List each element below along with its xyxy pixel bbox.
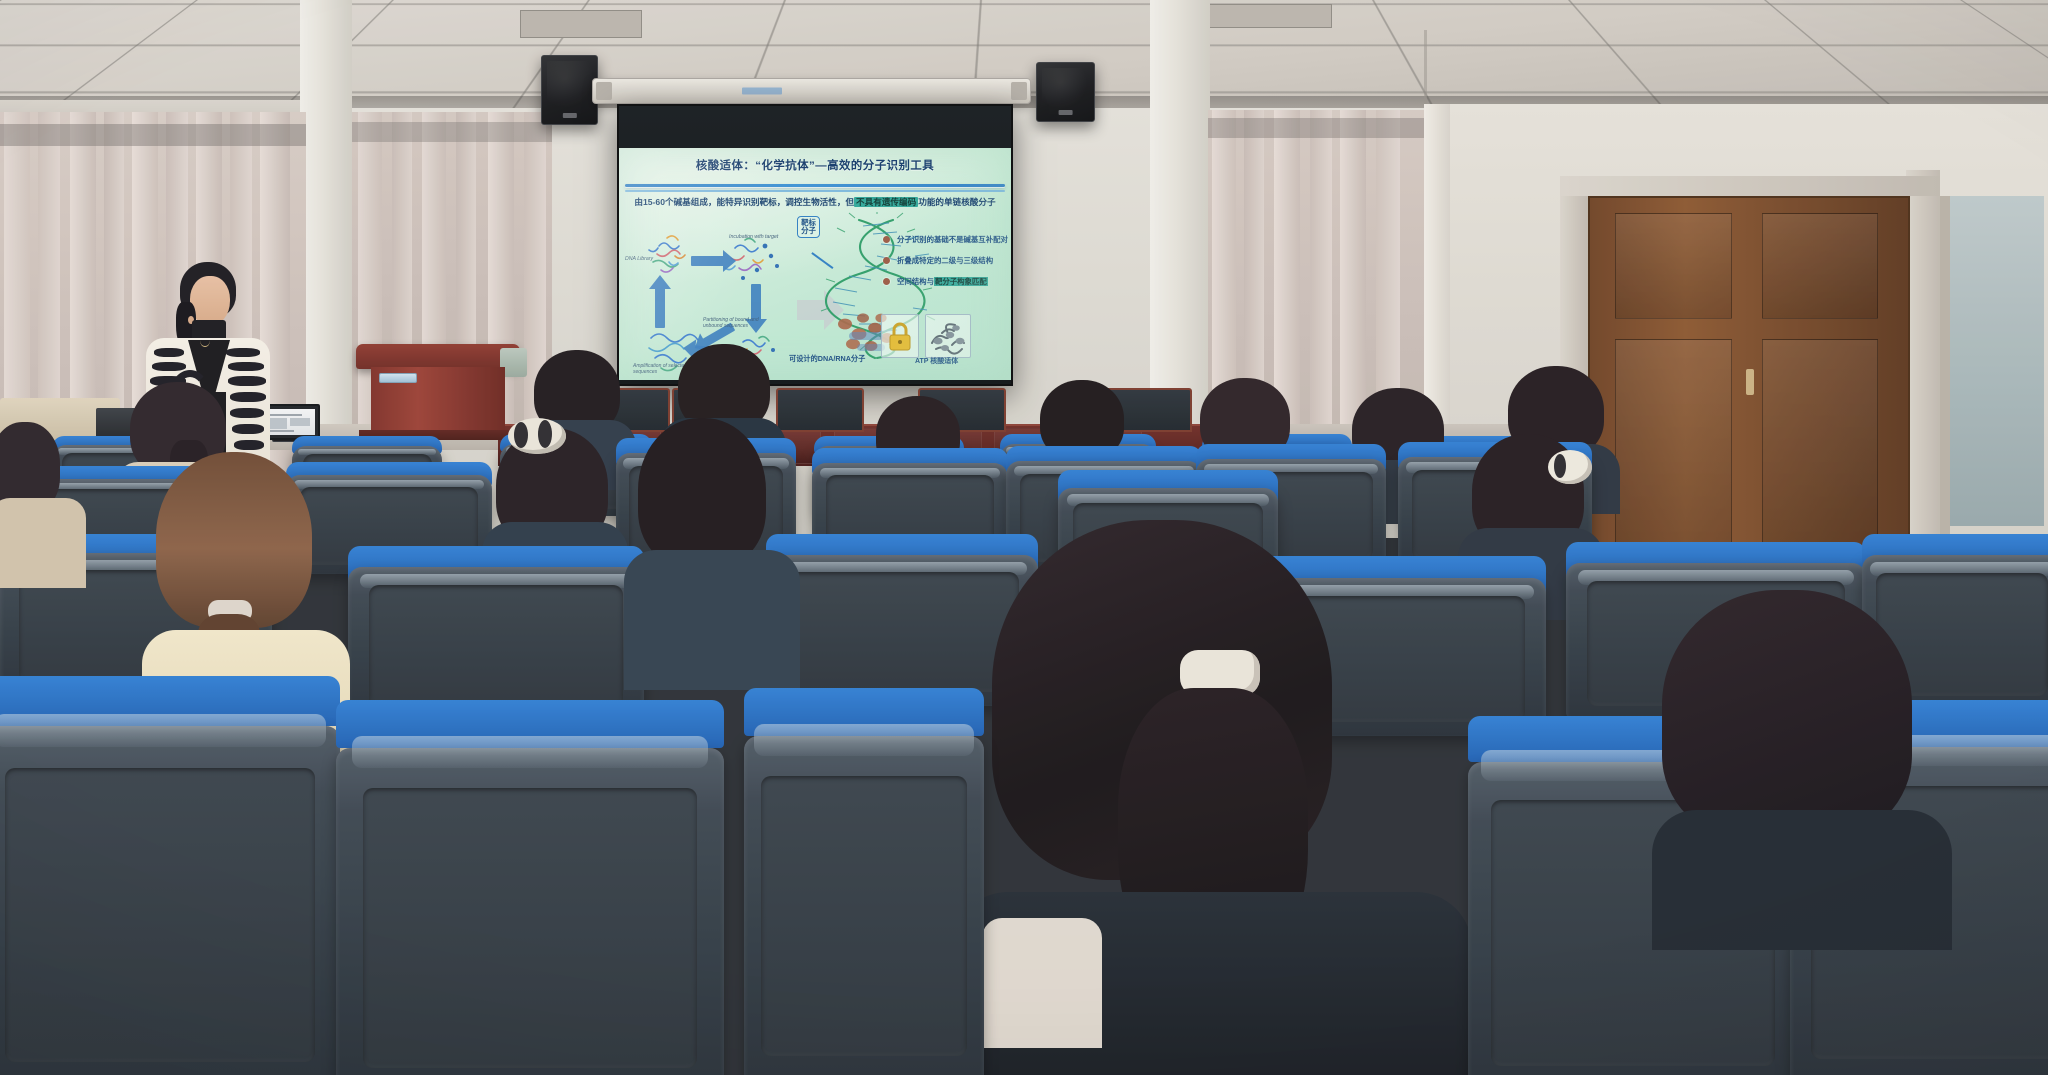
bullet-dot-icon [883,278,890,285]
wall-pillar-left [300,0,352,470]
bullet-dot-icon [883,236,890,243]
chair-foreground-left[interactable] [0,676,340,1075]
chair-foreground-midright[interactable] [744,688,984,1075]
selex-label-incubation: Incubation with target [729,234,778,240]
audience-foreground [952,520,1472,1075]
chair-r3-c2[interactable] [348,546,644,722]
slide-title-rule-thin [625,190,1005,192]
selex-arrow-partitioning [751,284,761,320]
audience-row3-center [624,418,794,648]
selex-label-partitioning: Partitioning of bound and unbound sequen… [703,318,765,330]
audience-row2-brown [142,452,342,692]
projector-screen-housing[interactable] [592,78,1031,104]
list-item: 空间结构与靶分子构象匹配 [883,276,1009,287]
bullet-text: 折叠成特定的二级与三级结构 [897,255,993,266]
icon-caption: ATP 核酸适体 [915,356,958,366]
slide-bullet-list: 分子识别的基础不是碱基互补配对 折叠成特定的二级与三级结构 空间结构与靶分子构象… [883,234,1009,297]
list-item: 折叠成特定的二级与三级结构 [883,255,1009,266]
door-handle[interactable] [1746,369,1754,395]
slide-subtitle-highlight: 不具有遗传编码 [854,197,918,207]
necklace [200,334,210,347]
ceiling-vent-1 [520,10,642,38]
wall-speaker-right [1036,62,1095,122]
slide-subtitle-after: 功能的单链核酸分子 [918,197,995,207]
slide-title: 核酸适体：“化学抗体”—高效的分子识别工具 [696,157,934,173]
screen-brand-logo [742,88,782,95]
audience-far-right [1652,590,1952,920]
slide-bottom-caption: 可设计的DNA/RNA分子 [789,354,865,364]
target-molecule-callout: 靶标分子 [797,216,820,238]
protein-structure-icon [926,315,970,357]
selex-arrow-to-incubation [691,256,725,266]
selex-label-dna-library: DNA Library [625,256,653,262]
chair-foreground-mid[interactable] [336,700,724,1075]
bullet-text: 分子识别的基础不是碱基互补配对 [897,234,1008,245]
bullet-text-highlight: 靶分子构象匹配 [934,277,988,286]
door-frame-right [1906,170,1940,570]
list-item: 分子识别的基础不是碱基互补配对 [883,234,1009,245]
face-mask [982,918,1102,1048]
slide-subtitle: 由15-60个碱基组成，能特异识别靶标，调控生物活性，但不具有遗传编码功能的单链… [629,196,1001,208]
lock-icon [882,315,918,357]
entrance-door[interactable] [1588,196,1910,572]
selex-arrow-cycle-up [655,288,665,328]
audience-left-edge [0,402,80,552]
protein-icon-box [925,314,971,358]
slide-title-rule [625,184,1005,187]
slide-subtitle-before: 由15-60个碱基组成，能特异识别靶标，调控生物活性，但 [634,197,854,207]
podium-plate [379,373,417,384]
wall-speaker-left [541,55,598,125]
door-sidelight-glass [1948,196,2044,526]
bullet-text: 空间结构与靶分子构象匹配 [897,276,988,287]
slide-title-bar: 核酸适体：“化学抗体”—高效的分子识别工具 [619,148,1011,183]
door-frame-top [1560,176,1940,196]
lock-icon-box [881,314,919,358]
screenshot-root: 核酸适体：“化学抗体”—高效的分子识别工具 由15-60个碱基组成，能特异识别靶… [0,0,2048,1075]
room-interior: 核酸适体：“化学抗体”—高效的分子识别工具 由15-60个碱基组成，能特异识别靶… [0,0,2048,1075]
sidelight-mullion [1940,196,1950,536]
bullet-dot-icon [883,257,890,264]
bullet-text-plain: 空间结构与 [897,277,934,286]
